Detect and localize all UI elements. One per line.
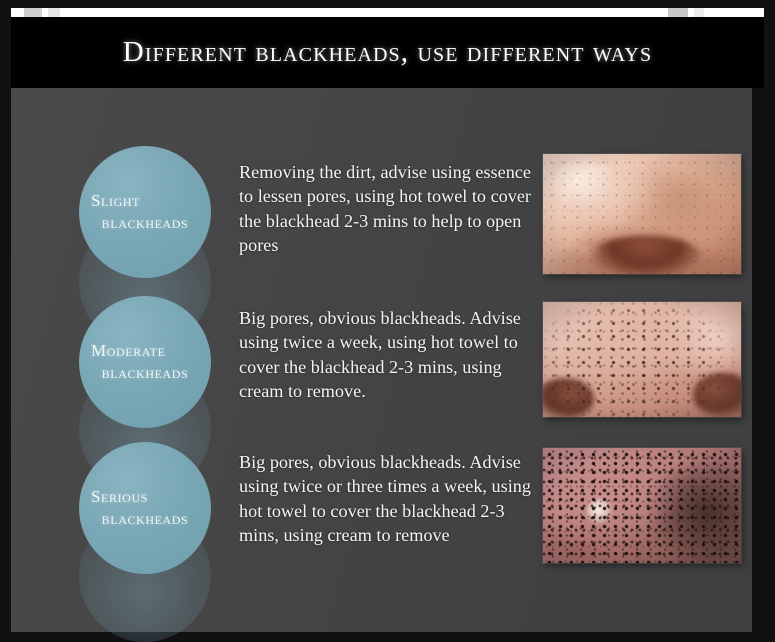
top-strip-notch [694,8,704,17]
category-badge-label-line1: Serious [91,486,148,508]
top-strip-notch [668,8,688,17]
top-decorative-strip [11,8,764,17]
title-bar: Different blackheads, use different ways [11,17,764,88]
content-panel: Slight blackheads Removing the dirt, adv… [11,88,752,632]
photo-moderate-blackheads [543,302,741,417]
content-row-moderate: Moderate blackheads Big pores, obvious b… [11,296,752,442]
photo-blackhead-dots [543,448,741,563]
photo-blackhead-dots [543,302,741,417]
category-badge-label-line2: blackheads [102,212,189,234]
top-strip-notch [48,8,60,17]
bottom-border [0,632,775,640]
category-badge-label-line1: Slight [91,190,140,212]
category-badge-label-line2: blackheads [102,508,189,530]
photo-serious-blackheads [543,448,741,563]
photo-slight-blackheads [543,154,741,274]
content-row-slight: Slight blackheads Removing the dirt, adv… [11,146,752,296]
category-badge-serious[interactable]: Serious blackheads [79,442,211,574]
description-text-serious: Big pores, obvious blackheads. Advise us… [239,450,539,548]
description-text-slight: Removing the dirt, advise using essence … [239,160,539,258]
top-strip-notch [24,8,42,17]
description-text-moderate: Big pores, obvious blackheads. Advise us… [239,306,539,404]
content-row-serious: Serious blackheads Big pores, obvious bl… [11,442,752,594]
category-badge-label-line1: Moderate [91,340,166,362]
category-badge-moderate[interactable]: Moderate blackheads [79,296,211,428]
category-badge-slight[interactable]: Slight blackheads [79,146,211,278]
photo-pore-texture [543,154,741,274]
page-title: Different blackheads, use different ways [123,36,652,69]
category-badge-label-line2: blackheads [102,362,189,384]
slide-canvas: Different blackheads, use different ways… [0,0,775,640]
